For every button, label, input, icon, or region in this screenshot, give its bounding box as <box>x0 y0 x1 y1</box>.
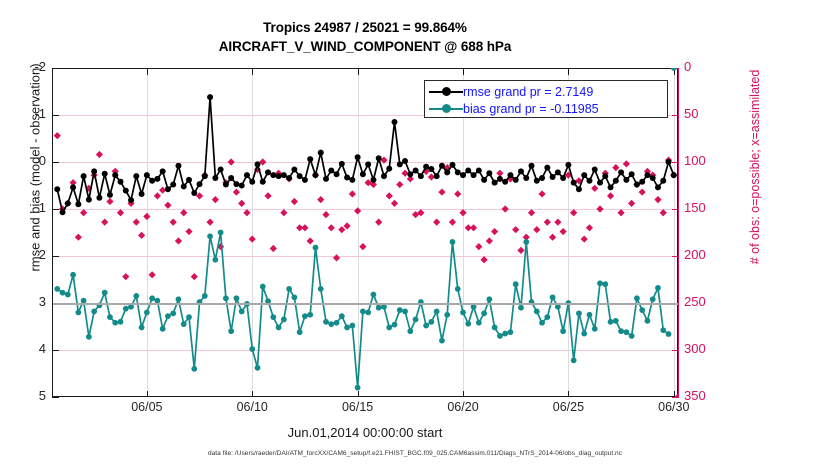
obs-marker <box>612 164 619 171</box>
obs-marker <box>164 202 171 209</box>
zero-reference-line <box>53 303 678 305</box>
series-rmse-marker <box>128 197 134 203</box>
series-bias-marker <box>86 334 92 340</box>
series-bias-marker <box>629 333 635 339</box>
series-rmse-marker <box>502 179 508 185</box>
obs-marker <box>496 170 503 177</box>
series-bias-marker <box>70 272 76 278</box>
series-rmse-marker <box>54 186 60 192</box>
series-rmse-marker <box>534 178 540 184</box>
series-bias-marker <box>523 239 529 245</box>
title-line-1: Tropics 24987 / 25021 = 99.864% <box>0 18 730 37</box>
series-rmse-marker <box>428 166 434 172</box>
obs-marker <box>328 224 335 231</box>
series-rmse-marker <box>560 175 566 181</box>
obs-marker <box>228 158 235 165</box>
series-bias-marker <box>307 312 313 318</box>
data-file-note: data file: /Users/raeder/DAI/ATM_forcXX/… <box>0 450 830 457</box>
series-rmse-marker <box>386 166 392 172</box>
series-rmse-marker <box>555 169 561 175</box>
series-bias-marker <box>645 318 651 324</box>
series-bias-marker <box>339 313 345 319</box>
series-rmse-marker <box>291 167 297 173</box>
series-bias-marker <box>144 310 150 316</box>
series-bias-marker <box>392 322 398 328</box>
series-rmse-marker <box>618 169 624 175</box>
series-bias-marker <box>550 294 556 300</box>
series-rmse-marker <box>481 177 487 183</box>
series-rmse-marker <box>407 171 413 177</box>
obs-marker <box>270 245 277 252</box>
series-rmse-marker <box>402 158 408 164</box>
series-bias-marker <box>355 385 361 391</box>
obs-marker <box>243 209 250 216</box>
obs-marker <box>581 235 588 242</box>
series-rmse-marker <box>592 167 598 173</box>
obs-marker <box>133 219 140 226</box>
series-rmse-marker <box>191 190 197 196</box>
obs-marker <box>660 209 667 216</box>
series-bias-marker <box>397 307 403 313</box>
obs-marker <box>591 185 598 192</box>
series-rmse-marker <box>81 173 87 179</box>
legend-marker-rmse <box>429 85 463 99</box>
series-bias-marker <box>313 245 319 251</box>
obs-marker <box>101 219 108 226</box>
series-rmse-marker <box>86 197 92 203</box>
series-rmse-marker <box>218 167 224 173</box>
obs-marker <box>117 209 124 216</box>
series-rmse-marker <box>107 192 113 198</box>
series-rmse-marker <box>650 175 656 181</box>
series-rmse-marker <box>476 167 482 173</box>
series-rmse-marker <box>413 167 419 173</box>
series-bias-marker <box>65 292 71 298</box>
series-rmse-marker <box>544 165 550 171</box>
obs-marker <box>180 209 187 216</box>
series-rmse-marker <box>344 175 350 181</box>
obs-marker <box>512 226 519 233</box>
chart-title: Tropics 24987 / 25021 = 99.864% AIRCRAFT… <box>0 18 730 56</box>
series-rmse-marker <box>629 171 635 177</box>
obs-marker <box>391 200 398 207</box>
obs-marker <box>233 188 240 195</box>
series-rmse-marker <box>392 119 398 125</box>
legend-label-bias: bias grand pr = -0.11985 <box>463 102 599 116</box>
series-rmse-marker <box>339 161 345 167</box>
series-bias-marker <box>186 314 192 320</box>
obs-marker <box>617 209 624 216</box>
obs-marker <box>449 219 456 226</box>
series-rmse-marker <box>65 200 71 206</box>
series-rmse-marker <box>644 172 650 178</box>
obs-marker <box>623 160 630 167</box>
series-rmse-marker <box>202 173 208 179</box>
series-rmse-marker <box>175 163 181 169</box>
series-bias-marker <box>581 331 587 337</box>
series-bias-marker <box>423 323 429 329</box>
series-rmse-marker <box>444 169 450 175</box>
series-bias-marker <box>428 319 434 325</box>
series-bias-marker <box>270 314 276 320</box>
right-axis-line <box>678 68 679 398</box>
series-bias-marker <box>176 296 182 302</box>
series-bias-marker <box>592 326 598 332</box>
series-bias-marker <box>123 306 129 312</box>
series-rmse-marker <box>418 173 424 179</box>
series-rmse-marker <box>233 181 239 187</box>
series-rmse-marker <box>497 176 503 182</box>
series-rmse-marker <box>60 209 66 215</box>
right-tick-label: 250 <box>684 294 724 309</box>
series-rmse-marker <box>312 172 318 178</box>
legend-box[interactable]: rmse grand pr = 2.7149 bias grand pr = -… <box>424 80 668 118</box>
obs-marker <box>175 237 182 244</box>
obs-marker <box>212 196 219 203</box>
right-tick-label: 100 <box>684 153 724 168</box>
obs-marker <box>674 393 678 397</box>
series-bias-marker <box>534 309 540 315</box>
series-bias-marker <box>450 239 456 245</box>
series-rmse-marker <box>465 167 471 173</box>
series-bias-marker <box>223 295 229 301</box>
series-bias-marker <box>371 292 377 298</box>
obs-marker <box>238 200 245 207</box>
series-bias-marker <box>618 328 624 334</box>
series-rmse-marker <box>486 170 492 176</box>
obs-marker <box>149 271 156 278</box>
obs-marker <box>475 243 482 250</box>
series-bias-marker <box>249 346 255 352</box>
legend-marker-bias <box>429 102 463 116</box>
series-bias-marker <box>133 293 139 299</box>
series-rmse-marker <box>586 178 592 184</box>
series-rmse-marker <box>550 174 556 180</box>
series-rmse-marker <box>455 169 461 175</box>
series-rmse-marker <box>439 163 445 169</box>
series-bias-marker <box>276 325 282 331</box>
series-bias-marker <box>328 321 334 327</box>
obs-marker <box>307 237 314 244</box>
series-bias-marker <box>502 331 508 337</box>
obs-marker <box>264 192 271 199</box>
series-bias-marker <box>202 293 208 299</box>
series-bias-marker <box>191 366 197 372</box>
series-bias-marker <box>54 286 60 292</box>
series-bias-marker <box>255 365 261 371</box>
bottom-tick-label: 06/05 <box>112 400 182 414</box>
series-bias-marker <box>160 326 166 332</box>
obs-marker <box>607 192 614 199</box>
series-rmse-marker <box>513 177 519 183</box>
series-bias-marker <box>365 310 371 316</box>
series-bias-marker <box>602 281 608 287</box>
series-bias-marker <box>218 230 224 236</box>
series-bias-marker <box>544 314 550 320</box>
series-rmse-marker <box>154 176 160 182</box>
obs-marker <box>470 224 477 231</box>
series-bias-marker <box>434 309 440 315</box>
series-rmse-marker <box>239 183 245 189</box>
series-rmse-marker <box>186 177 192 183</box>
series-bias-marker <box>560 328 566 334</box>
obs-marker <box>549 234 556 241</box>
series-bias-marker <box>139 325 145 331</box>
series-rmse-marker <box>318 150 324 156</box>
series-rmse-marker <box>370 177 376 183</box>
series-bias-marker <box>513 281 519 287</box>
series-rmse-marker <box>523 175 529 181</box>
series-rmse-marker <box>249 179 255 185</box>
obs-marker <box>596 205 603 212</box>
obs-marker <box>628 200 635 207</box>
legend-item-bias[interactable]: bias grand pr = -0.11985 <box>429 100 663 117</box>
series-rmse-marker <box>623 177 629 183</box>
series-bias-marker <box>386 325 392 331</box>
obs-marker <box>191 273 198 280</box>
series-rmse-marker <box>165 186 171 192</box>
series-rmse-marker <box>571 180 577 186</box>
legend-item-rmse[interactable]: rmse grand pr = 2.7149 <box>429 83 663 100</box>
bottom-axis-title: Jun.01,2014 00:00:00 start <box>52 425 678 440</box>
series-rmse-marker <box>144 172 150 178</box>
series-bias-marker <box>407 328 413 334</box>
series-rmse-marker <box>223 182 229 188</box>
series-obs-assimilated <box>54 132 678 397</box>
series-bias-marker <box>439 338 445 344</box>
obs-marker <box>170 219 177 226</box>
obs-marker <box>586 224 593 231</box>
series-bias-marker <box>381 304 387 310</box>
series-rmse-marker <box>376 155 382 161</box>
series-bias-marker <box>402 309 408 315</box>
bottom-tick-label: 06/10 <box>217 400 287 414</box>
series-rmse-marker <box>265 169 271 175</box>
series-bias-marker <box>486 296 492 302</box>
obs-marker <box>317 196 324 203</box>
obs-marker <box>486 237 493 244</box>
right-tick-label: 300 <box>684 341 724 356</box>
series-bias-marker <box>318 286 324 292</box>
series-bias-marker <box>260 284 266 290</box>
obs-marker <box>560 228 567 235</box>
series-bias-marker <box>460 310 466 316</box>
series-bias-marker <box>107 314 113 320</box>
series-rmse-marker <box>255 161 261 167</box>
obs-marker <box>301 224 308 231</box>
series-rmse-marker <box>360 171 366 177</box>
series-rmse-marker <box>355 154 361 160</box>
obs-marker <box>54 132 61 139</box>
series-bias-marker <box>613 318 619 324</box>
series-rmse-marker <box>449 162 455 168</box>
series-rmse-marker <box>181 183 187 189</box>
series-rmse-marker <box>507 172 513 178</box>
series-rmse-marker <box>539 175 545 181</box>
series-bias-marker <box>349 323 355 329</box>
obs-marker <box>654 196 661 203</box>
series-bias-marker <box>60 290 66 296</box>
series-bias-marker <box>181 321 187 327</box>
right-tick-label: 50 <box>684 106 724 121</box>
series-rmse-marker <box>260 179 266 185</box>
right-tick-label: 200 <box>684 247 724 262</box>
series-rmse-marker <box>597 180 603 186</box>
title-line-2: AIRCRAFT_V_WIND_COMPONENT @ 688 hPa <box>0 37 730 56</box>
series-rmse-marker <box>281 172 287 178</box>
series-rmse-marker <box>323 176 329 182</box>
series-rmse-marker <box>96 195 102 201</box>
obs-marker <box>106 198 113 205</box>
obs-marker <box>554 219 561 226</box>
obs-marker <box>154 192 161 199</box>
series-bias-marker <box>297 329 303 335</box>
series-bias-marker <box>360 309 366 315</box>
series-rmse-marker <box>286 175 292 181</box>
series-rmse-marker <box>666 159 672 165</box>
obs-marker <box>280 209 287 216</box>
series-rmse-marker <box>207 94 213 100</box>
series-bias-marker <box>508 329 514 335</box>
series-rmse-marker <box>423 164 429 170</box>
series-bias-marker <box>234 295 240 301</box>
obs-marker <box>386 192 393 199</box>
series-bias-marker <box>597 280 603 286</box>
obs-marker <box>343 222 350 229</box>
obs-marker <box>544 219 551 226</box>
series-bias-marker <box>286 286 292 292</box>
series-rmse-marker <box>228 175 234 181</box>
obs-marker <box>491 228 498 235</box>
series-rmse-marker <box>270 172 276 178</box>
series-bias-marker <box>481 310 487 316</box>
series-bias-marker <box>634 295 640 301</box>
series-rmse-marker <box>212 175 218 181</box>
series-bias-marker <box>639 307 645 313</box>
bottom-tick-label: 06/30 <box>639 400 709 414</box>
series-bias-marker <box>455 286 461 292</box>
series-rmse-marker <box>602 173 608 179</box>
obs-marker <box>291 198 298 205</box>
obs-marker <box>349 190 356 197</box>
obs-marker <box>538 190 545 197</box>
obs-marker <box>570 209 577 216</box>
series-bias-marker <box>413 317 419 323</box>
obs-marker <box>206 219 213 226</box>
left-axis-tick <box>53 397 59 398</box>
obs-marker <box>96 151 103 158</box>
series-bias-marker <box>91 309 97 315</box>
series-rmse-marker <box>149 178 155 184</box>
obs-marker <box>396 181 403 188</box>
obs-marker <box>375 219 382 226</box>
series-rmse-marker <box>460 172 466 178</box>
series-rmse-marker <box>529 163 535 169</box>
series-bias-marker <box>666 331 672 337</box>
series-rmse-marker <box>112 172 118 178</box>
series-rmse-marker <box>608 184 614 190</box>
series-rmse-marker <box>276 173 282 179</box>
obs-marker <box>122 273 129 280</box>
obs-marker <box>459 209 466 216</box>
series-bias-marker <box>334 320 340 326</box>
right-tick-label: 0 <box>684 59 724 74</box>
obs-marker <box>639 188 646 195</box>
left-tick-label: 5 <box>6 388 46 403</box>
series-rmse-marker <box>297 173 303 179</box>
obs-marker <box>533 226 540 233</box>
series-bias-marker <box>239 309 245 315</box>
series-rmse-marker <box>197 181 203 187</box>
series-rmse-marker <box>471 172 477 178</box>
series-rmse-marker <box>576 186 582 192</box>
series-rmse-marker <box>613 178 619 184</box>
series-bias-marker <box>102 290 108 296</box>
series-rmse-marker <box>123 188 129 194</box>
series-bias-marker <box>555 304 561 310</box>
series-bias-marker <box>576 310 582 316</box>
series-rmse-marker <box>307 156 313 162</box>
series-rmse-marker <box>397 161 403 167</box>
series-bias-marker <box>608 319 614 325</box>
obs-marker <box>354 207 361 214</box>
series-rmse-marker <box>328 167 334 173</box>
series-bias-marker <box>112 320 118 326</box>
series-bias-marker <box>476 320 482 326</box>
series-bias-marker <box>170 310 176 316</box>
series-bias-marker <box>75 310 81 316</box>
obs-marker <box>502 205 509 212</box>
series-bias-marker <box>228 328 234 334</box>
obs-marker <box>322 211 329 218</box>
series-rmse-marker <box>302 177 308 183</box>
bottom-tick-label: 06/15 <box>323 400 393 414</box>
series-bias-marker <box>118 319 124 325</box>
series-bias-marker <box>623 329 629 335</box>
series-rmse-marker <box>365 161 371 167</box>
bottom-tick-label: 06/25 <box>533 400 603 414</box>
obs-marker <box>338 226 345 233</box>
series-bias-marker <box>376 305 382 311</box>
obs-marker <box>528 209 535 216</box>
series-bias-marker <box>291 294 297 300</box>
series-rmse-marker <box>139 191 145 197</box>
right-axis-title: # of obs: o=possible; x=assimilated <box>748 2 762 332</box>
series-rmse-marker <box>660 178 666 184</box>
series-rmse-marker <box>160 168 166 174</box>
obs-marker <box>454 190 461 197</box>
bottom-tick-label: 06/20 <box>428 400 498 414</box>
series-rmse-marker <box>118 179 124 185</box>
series-bias-marker <box>471 304 477 310</box>
obs-marker <box>333 254 340 261</box>
series-bias-marker <box>650 296 656 302</box>
series-bias-marker <box>492 325 498 331</box>
series-bias-marker <box>344 325 350 331</box>
obs-marker <box>138 232 145 239</box>
series-bias-marker <box>165 313 171 319</box>
series-rmse-marker <box>671 172 677 178</box>
series-bias-marker <box>465 321 471 327</box>
series-bias-marker <box>212 257 218 263</box>
obs-marker <box>480 256 487 263</box>
obs-marker <box>438 188 445 195</box>
series-bias-marker <box>302 313 308 319</box>
series-rmse-marker <box>170 182 176 188</box>
series-rmse-marker <box>434 173 440 179</box>
series-bias-marker <box>671 68 677 71</box>
obs-marker <box>433 219 440 226</box>
